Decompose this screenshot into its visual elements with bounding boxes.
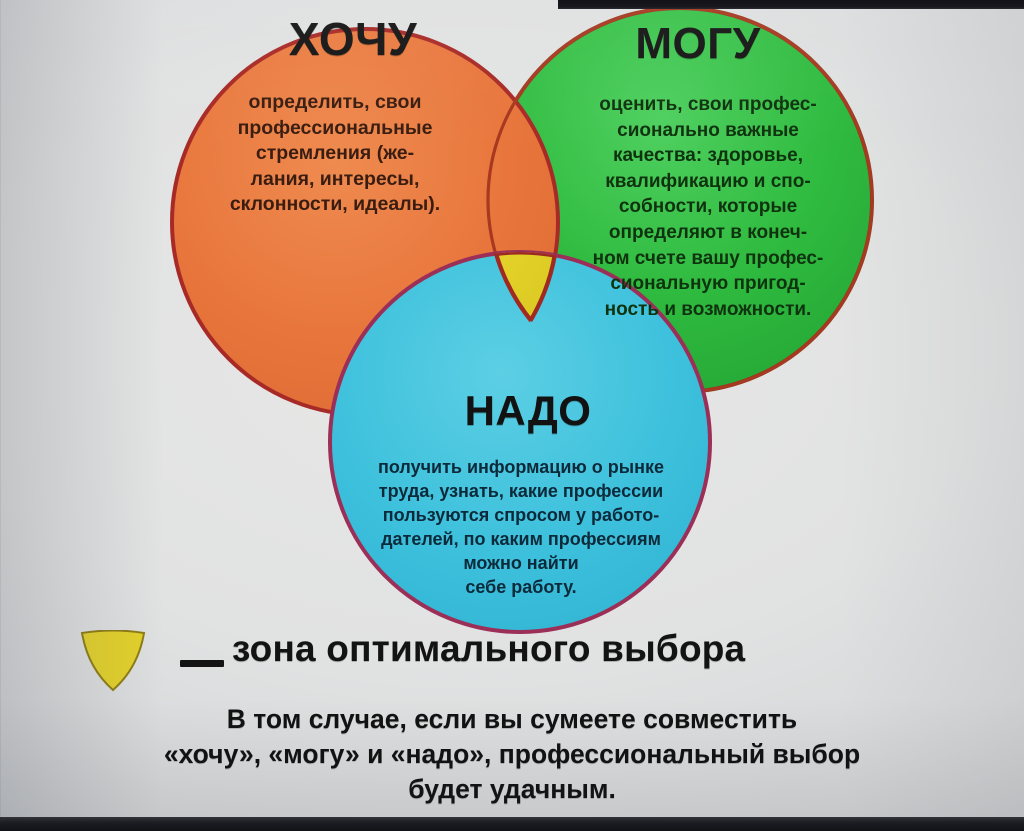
screen-bezel-top: [558, 0, 1024, 9]
footnote-line-2: «хочу», «могу» и «надо», профессиональны…: [0, 737, 1024, 772]
screen-bezel-bottom: [0, 817, 1024, 831]
legend: зона оптимального выбора: [0, 628, 1024, 698]
footnote-line-3: будет удачным.: [0, 772, 1024, 807]
intersection-swatch-icon: [78, 630, 148, 692]
legend-label: зона оптимального выбора: [232, 626, 745, 672]
footnote-line-1: В том случае, если вы сумеете совместить: [0, 702, 1024, 737]
footnote: В том случае, если вы сумеете совместить…: [0, 702, 1024, 807]
legend-row: зона оптимального выбора: [0, 628, 1024, 698]
venn-diagram: [0, 0, 1024, 700]
screenshot-stage: ХОЧУ определить, свои профессиональные с…: [0, 0, 1024, 831]
legend-dash-icon: [180, 660, 224, 667]
